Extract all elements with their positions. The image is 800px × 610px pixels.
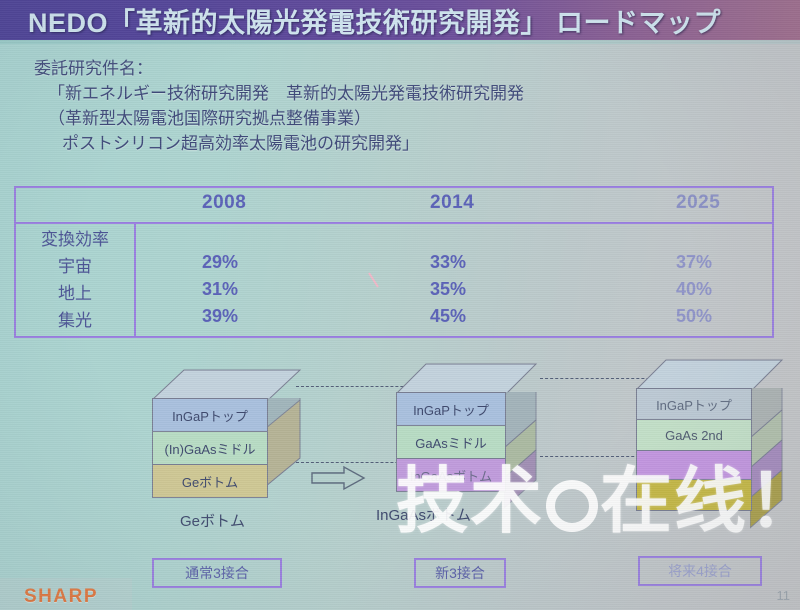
project-name-block: 委託研究件名： 「新エネルギー技術研究開発 革新的太陽光発電技術研究開発 （革新…	[34, 56, 674, 156]
stack-side-face	[504, 392, 538, 508]
table-row: 31% 35% 40%	[136, 279, 772, 306]
stack-top-face	[396, 362, 538, 396]
badge-new-3j: 新3接合	[414, 558, 506, 588]
layer-4th-junction	[636, 479, 752, 511]
table-row-label-concentrator: 集光	[16, 307, 134, 334]
stack-top-face	[152, 368, 302, 402]
badge-future-4j: 将来4接合	[638, 556, 762, 586]
page-number: 11	[777, 588, 791, 603]
layer-ge-bottom: Geボトム	[152, 464, 268, 498]
table-row: 29% 33% 37%	[136, 252, 772, 279]
stack-caption-2: InGaAsボトム	[376, 504, 471, 525]
table-header-year-2008: 2008	[202, 192, 246, 214]
table-header-year-2025: 2025	[676, 192, 720, 214]
layer-ingaas-middle: (In)GaAsミドル	[152, 431, 268, 465]
cell-space-2025: 37%	[676, 252, 712, 273]
table-header-row: 2008 2014 2025	[16, 188, 772, 224]
cell-space-2008: 29%	[202, 252, 238, 273]
project-line-3: ポストシリコン超高効率太陽電池の研究開発」	[34, 131, 674, 156]
cell-space-2014: 33%	[430, 252, 466, 273]
project-heading: 委託研究件名：	[34, 56, 674, 81]
layer-gaas-2nd: GaAs 2nd	[636, 419, 752, 451]
layer-ingaas-bottom: InGaAsボトム	[396, 458, 506, 492]
table-row: 39% 45% 50%	[136, 306, 772, 333]
project-line-1: 「新エネルギー技術研究開発 革新的太陽光発電技術研究開発	[34, 81, 674, 106]
sharp-logo: SHARP	[24, 586, 98, 608]
slide-title: NEDO「革新的太陽光発電技術研究開発」 ロードマップ	[28, 1, 721, 40]
table-row-label-column: 変換効率 宇宙 地上 集光	[16, 226, 134, 334]
layer-ingap-top: InGaPトップ	[152, 398, 268, 432]
stack-side-face	[266, 398, 302, 512]
title-underline-divider	[0, 40, 800, 44]
table-header-year-2014: 2014	[430, 192, 474, 214]
cell-concentrator-2025: 50%	[676, 306, 712, 327]
layer-3rd-junction	[636, 450, 752, 480]
pink-tick-artifact	[368, 272, 380, 288]
stack-top-face	[636, 358, 784, 392]
layer-gaas-middle: GaAsミドル	[396, 425, 506, 459]
project-line-2: （革新型太陽電池国際研究拠点整備事業）	[34, 106, 674, 131]
stack-side-face	[750, 388, 784, 540]
cell-ground-2008: 31%	[202, 279, 238, 300]
table-data-area: 29% 33% 37% 31% 35% 40% 39% 45% 50%	[136, 252, 772, 333]
right-arrow-icon	[310, 465, 366, 496]
stack-caption-1: Geボトム	[180, 510, 245, 531]
table-row-label-space: 宇宙	[16, 253, 134, 280]
cell-concentrator-2014: 45%	[430, 306, 466, 327]
cell-ground-2025: 40%	[676, 279, 712, 300]
layer-ingap-top: InGaPトップ	[636, 388, 752, 420]
cell-concentrator-2008: 39%	[202, 306, 238, 327]
slide-title-bar: NEDO「革新的太陽光発電技術研究開発」 ロードマップ	[0, 0, 800, 40]
table-row-label-ground: 地上	[16, 280, 134, 307]
layer-ingap-top: InGaPトップ	[396, 392, 506, 426]
row-group-label: 変換効率	[16, 226, 134, 253]
cell-ground-2014: 35%	[430, 279, 466, 300]
badge-conventional-3j: 通常3接合	[152, 558, 282, 588]
watermark-ring-icon	[546, 480, 598, 532]
efficiency-roadmap-table: 2008 2014 2025 変換効率 宇宙 地上 集光 29% 33% 37%…	[14, 186, 774, 338]
slide-canvas: NEDO「革新的太陽光発電技術研究開発」 ロードマップ 委託研究件名： 「新エネ…	[0, 0, 800, 610]
